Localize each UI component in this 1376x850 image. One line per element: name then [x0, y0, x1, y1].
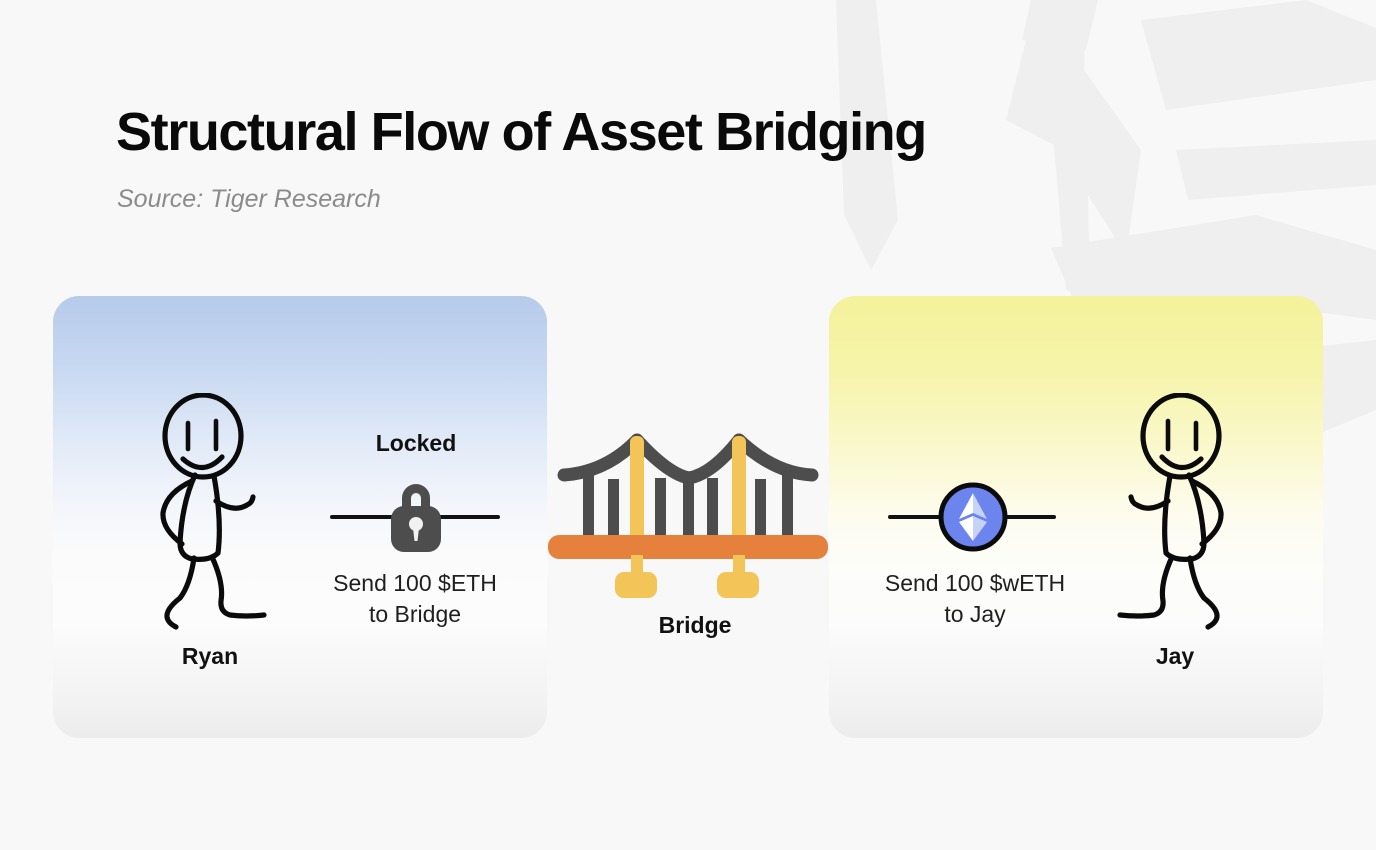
page-subtitle: Source: Tiger Research	[117, 185, 381, 214]
bridge-label: Bridge	[595, 612, 795, 639]
step-caption-line-2: to Bridge	[285, 599, 545, 630]
step-caption-line-1: Send 100 $ETH	[285, 568, 545, 599]
step-caption-mint: Send 100 $wETH to Jay	[845, 568, 1105, 630]
step-caption-locked: Send 100 $ETH to Bridge	[285, 568, 545, 630]
stick-figure-person-icon-ryan	[146, 393, 276, 633]
page-title: Structural Flow of Asset Bridging	[116, 104, 926, 161]
infographic-canvas: Structural Flow of Asset Bridging Source…	[0, 0, 1376, 850]
suspension-bridge-icon	[546, 432, 830, 598]
step-caption-line-1: Send 100 $wETH	[845, 568, 1105, 599]
step-label-locked: Locked	[296, 430, 536, 457]
ethereum-logo-icon	[937, 481, 1009, 553]
stick-figure-person-icon-jay	[1108, 393, 1238, 633]
step-caption-line-2: to Jay	[845, 599, 1105, 630]
actor-name-jay: Jay	[1075, 643, 1275, 670]
padlock-icon	[387, 478, 445, 552]
actor-name-ryan: Ryan	[110, 643, 310, 670]
